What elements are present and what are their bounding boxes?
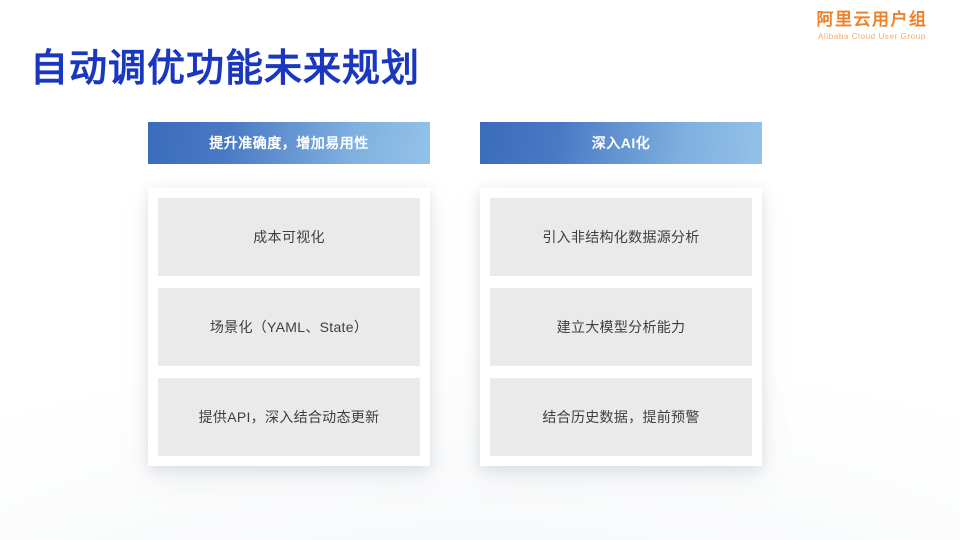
columns-container: 提升准确度，增加易用性 成本可视化 场景化（YAML、State） 提供API，… xyxy=(148,122,812,466)
list-item-label: 提供API，深入结合动态更新 xyxy=(199,408,380,427)
column-card-deepen-ai: 引入非结构化数据源分析 建立大模型分析能力 结合历史数据，提前预警 xyxy=(480,188,762,466)
alibaba-cloud-user-group-logo: 阿里云用户组 Alibaba Cloud User Group xyxy=(806,10,938,41)
column-deepen-ai: 深入AI化 引入非结构化数据源分析 建立大模型分析能力 结合历史数据，提前预警 xyxy=(480,122,762,466)
list-item-label: 结合历史数据，提前预警 xyxy=(542,408,699,427)
logo-name-cn: 阿里云用户组 xyxy=(806,10,938,30)
list-item-label: 场景化（YAML、State） xyxy=(210,318,368,337)
list-item: 成本可视化 xyxy=(158,198,420,276)
list-item-label: 引入非结构化数据源分析 xyxy=(542,228,699,247)
list-item: 结合历史数据，提前预警 xyxy=(490,378,752,456)
column-improve-accuracy: 提升准确度，增加易用性 成本可视化 场景化（YAML、State） 提供API，… xyxy=(148,122,430,466)
column-header-deepen-ai: 深入AI化 xyxy=(480,122,762,164)
column-card-improve-accuracy: 成本可视化 场景化（YAML、State） 提供API，深入结合动态更新 xyxy=(148,188,430,466)
page-title: 自动调优功能未来规划 xyxy=(30,47,420,92)
list-item: 提供API，深入结合动态更新 xyxy=(158,378,420,456)
slide-canvas: 阿里云用户组 Alibaba Cloud User Group 自动调优功能未来… xyxy=(0,0,960,540)
list-item-label: 建立大模型分析能力 xyxy=(557,318,686,337)
list-item-label: 成本可视化 xyxy=(253,228,325,247)
list-item: 场景化（YAML、State） xyxy=(158,288,420,366)
list-item: 引入非结构化数据源分析 xyxy=(490,198,752,276)
column-header-improve-accuracy: 提升准确度，增加易用性 xyxy=(148,122,430,164)
logo-name-en: Alibaba Cloud User Group xyxy=(806,32,938,41)
list-item: 建立大模型分析能力 xyxy=(490,288,752,366)
